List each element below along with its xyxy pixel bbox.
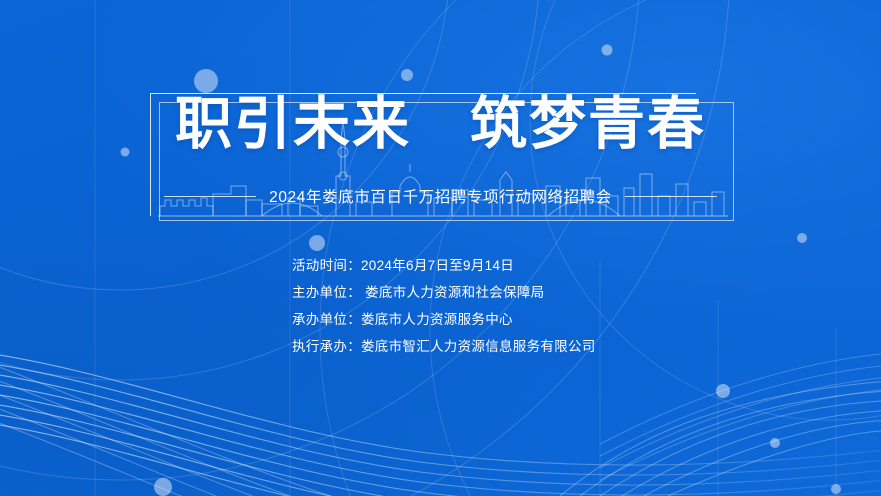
info-line-event-time: 活动时间： 2024年6月7日至9月14日: [292, 254, 596, 274]
info-line-executor: 执行承办： 娄底市智汇人力资源信息服务有限公司: [292, 335, 596, 355]
info-label: 活动时间：: [292, 254, 361, 274]
info-value: 娄底市智汇人力资源信息服务有限公司: [361, 335, 596, 355]
info-value: 娄底市人力资源和社会保障局: [361, 281, 544, 301]
page-subtitle: 2024年娄底市百日千万招聘专项行动网络招聘会: [269, 185, 612, 207]
info-label: 承办单位：: [292, 308, 361, 328]
subtitle-rule-right: [625, 196, 717, 197]
page-title: 职引未来 筑梦青春: [0, 96, 881, 153]
event-info-block: 活动时间： 2024年6月7日至9月14日 主办单位： 娄底市人力资源和社会保障…: [292, 254, 596, 355]
info-line-organizer: 主办单位： 娄底市人力资源和社会保障局: [292, 281, 596, 301]
info-value: 娄底市人力资源服务中心: [361, 308, 513, 328]
info-label: 执行承办：: [292, 335, 361, 355]
subtitle-rule-left: [164, 196, 256, 197]
subtitle-row: 2024年娄底市百日千万招聘专项行动网络招聘会: [0, 185, 881, 207]
info-value: 2024年6月7日至9月14日: [361, 254, 514, 274]
info-line-host: 承办单位： 娄底市人力资源服务中心: [292, 308, 596, 328]
recruitment-poster-banner: 职引未来 筑梦青春 2024年娄底市百日千万招聘专项行动网络招聘会 活动时间： …: [0, 0, 881, 496]
info-label: 主办单位：: [292, 281, 361, 301]
city-skyline-icon: [0, 0, 881, 496]
